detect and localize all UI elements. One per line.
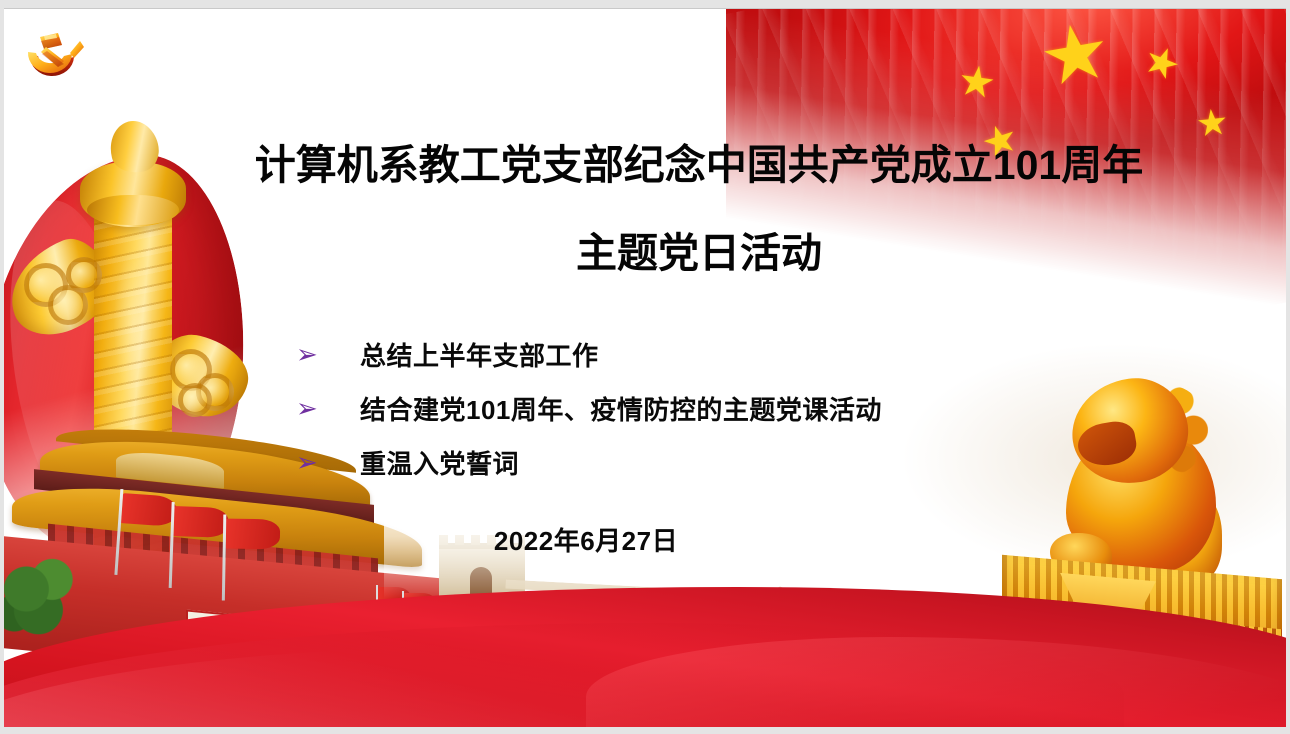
list-item: ➢ 总结上半年支部工作 <box>296 327 1076 381</box>
slide-content: 计算机系教工党支部纪念中国共产党成立101周年 主题党日活动 ➢ 总结上半年支部… <box>4 9 1286 727</box>
agenda-item-label-2: 结合建党101周年、疫情防控的主题党课活动 <box>360 390 882 427</box>
title-line-2: 主题党日活动 <box>154 209 1244 297</box>
bullet-arrow-icon: ➢ <box>296 449 360 475</box>
agenda-list: ➢ 总结上半年支部工作 ➢ 结合建党101周年、疫情防控的主题党课活动 ➢ 重温… <box>296 327 1076 489</box>
hammer-and-sickle-icon <box>20 25 88 83</box>
list-item: ➢ 结合建党101周年、疫情防控的主题党课活动 <box>296 381 1076 435</box>
agenda-item-label-1: 总结上半年支部工作 <box>360 336 599 373</box>
list-item: ➢ 重温入党誓词 <box>296 435 1076 489</box>
title-line-1: 计算机系教工党支部纪念中国共产党成立101周年 <box>154 121 1244 209</box>
page-title: 计算机系教工党支部纪念中国共产党成立101周年 主题党日活动 <box>154 121 1244 297</box>
presentation-slide: ★ ★ ★ ★ ★ 中华人民共和国万岁 世界人民大团结万岁 <box>4 8 1286 727</box>
event-date: 2022年6月27日 <box>296 521 876 558</box>
bullet-arrow-icon: ➢ <box>296 395 360 421</box>
bullet-arrow-icon: ➢ <box>296 341 360 367</box>
agenda-item-label-3: 重温入党誓词 <box>360 444 519 481</box>
